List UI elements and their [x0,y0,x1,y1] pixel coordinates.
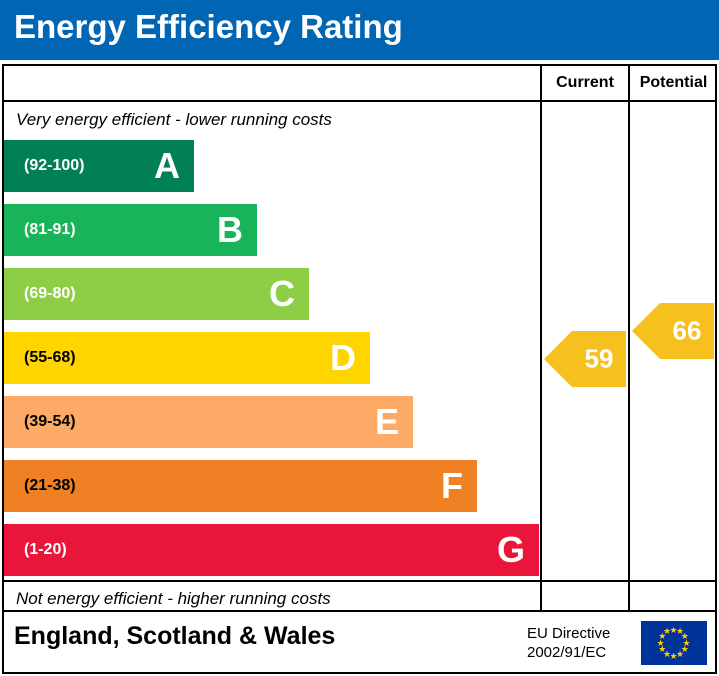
band-c-range: (69-80) [24,285,76,303]
marker-current-point [544,331,572,387]
eu-flag-icon: ★★★★★★★★★★★★ [641,621,707,665]
band-f: (21-38) F [4,460,477,512]
band-e-range: (39-54) [24,413,76,431]
epc-chart: Energy Efficiency Rating Current Potenti… [0,0,719,676]
band-g: (1-20) G [4,524,539,576]
marker-current-value: 59 [572,344,626,375]
eu-directive-line2: 2002/91/EC [527,643,610,662]
band-d-range: (55-68) [24,349,76,367]
band-b-letter: B [217,212,243,248]
band-a: (92-100) A [4,140,194,192]
title-bar: Energy Efficiency Rating [0,0,719,60]
footer-region: England, Scotland & Wales [14,622,335,651]
band-c-letter: C [269,276,295,312]
eu-directive: EU Directive 2002/91/EC [527,624,610,662]
band-e-letter: E [375,404,399,440]
band-f-letter: F [441,468,463,504]
band-e: (39-54) E [4,396,413,448]
marker-current: 59 [544,331,626,387]
column-separator-current [540,64,542,612]
band-a-letter: A [154,148,180,184]
note-bottom: Not energy efficient - higher running co… [16,589,331,609]
header-separator [2,100,717,102]
eu-star-icon: ★ [663,627,671,636]
band-a-range: (92-100) [24,157,84,175]
column-header-current: Current [542,74,628,92]
column-header-potential: Potential [630,74,717,92]
band-g-letter: G [497,532,525,568]
band-f-range: (21-38) [24,477,76,495]
band-c: (69-80) C [4,268,309,320]
band-d-letter: D [330,340,356,376]
band-b-range: (81-91) [24,221,76,239]
band-b: (81-91) B [4,204,257,256]
column-separator-potential [628,64,630,612]
marker-potential-point [632,303,660,359]
footer-separator [2,580,717,582]
band-g-range: (1-20) [24,541,67,559]
band-d: (55-68) D [4,332,370,384]
note-top: Very energy efficient - lower running co… [16,110,332,130]
marker-potential: 66 [632,303,714,359]
marker-potential-value: 66 [660,316,714,347]
eu-directive-line1: EU Directive [527,624,610,643]
page-title: Energy Efficiency Rating [14,8,403,46]
